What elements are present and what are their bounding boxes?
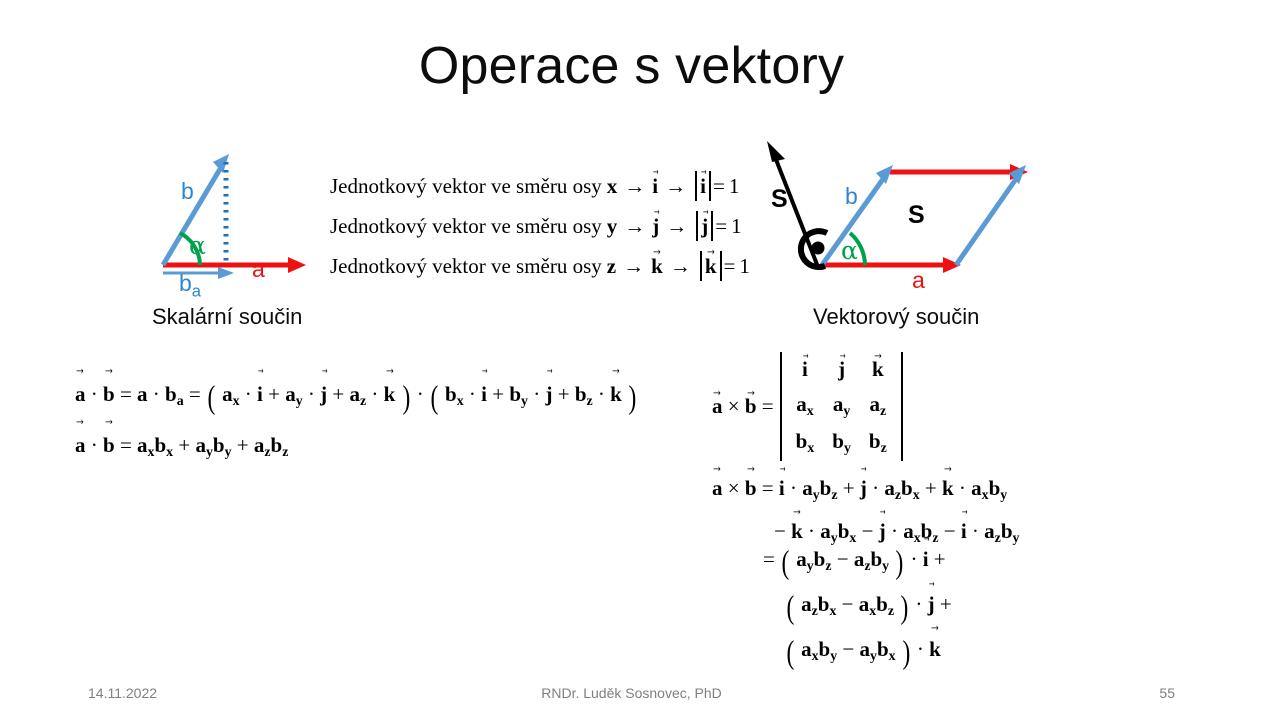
exp-a-x-1: a	[971, 476, 982, 500]
cmp-sub-z-4: z	[888, 603, 894, 618]
cmp-b-z-1: b	[814, 547, 826, 571]
cmp-vec-i: i	[923, 540, 929, 578]
sub-z-4: z	[282, 444, 288, 459]
sym-dot-7: ·	[469, 382, 476, 406]
sym-dot-12: ·	[872, 476, 879, 500]
det-cell-ax: ax	[787, 387, 824, 424]
cmp-sub-y-4: y	[870, 648, 877, 663]
cmp-a-x-2: a	[801, 637, 812, 661]
vector-b-label-cross: b	[845, 185, 858, 208]
unit-vector-definitions: Jednotkový vektor ve směru osy x → i → i…	[330, 166, 750, 286]
sym-plus-1: +	[268, 382, 280, 406]
cmp-b-x-1: b	[818, 592, 830, 616]
exp-sub-y-2: y	[1000, 487, 1007, 502]
vector-b-parallel-arrow-cross	[956, 165, 1026, 265]
exp-b-y-1: b	[989, 476, 1001, 500]
sym-b-scalar-1: b	[165, 382, 177, 406]
equals-glyph-x: =	[713, 174, 725, 199]
vector-a-parallel-arrow-cross	[890, 164, 1028, 180]
paren-open-3: (	[782, 544, 790, 582]
paren-open-5: (	[787, 634, 795, 672]
sym-times-1: ×	[728, 394, 740, 418]
determinant-row-a: ax ay az	[787, 387, 896, 424]
scalar-product-diagram	[140, 140, 340, 300]
sub-y-4: y	[225, 444, 232, 459]
det-sub-z-b: z	[881, 440, 887, 455]
sym-vec-i-1: i	[257, 372, 263, 416]
sub-y-1: y	[296, 393, 303, 408]
arrow-glyph-y2: →	[666, 214, 687, 239]
arrow-glyph-z2: →	[670, 254, 691, 279]
sym-dot-19: ·	[917, 637, 924, 661]
unit-vector-row-y: Jednotkový vektor ve směru osy y → j → j…	[330, 206, 750, 246]
slide-canvas: Operace s vektory b a ba α Skalární souč…	[0, 0, 1263, 711]
unit-vector-symbol-x: i	[652, 174, 658, 199]
sym-vec-b-4: b	[745, 470, 757, 507]
det-bar-left	[780, 352, 782, 461]
footer-page-number: 55	[1159, 685, 1175, 701]
determinant-row: a × b = i j k ax ay az	[712, 352, 903, 461]
sym-dot-13: ·	[959, 476, 966, 500]
term-ay-2: a	[195, 433, 206, 457]
abs-bar-right-x	[709, 171, 711, 201]
det-sym-b-z: b	[869, 429, 881, 453]
magnitude-inner-symbol-z: k	[702, 254, 720, 279]
sym-vec-a-4: a	[712, 470, 723, 507]
equals-glyph-y: =	[715, 214, 727, 239]
cross-product-determinant-block: a × b = i j k ax ay az	[712, 352, 903, 461]
cross-det-lhs: a × b =	[712, 394, 774, 419]
sym-vec-a-2: a	[75, 423, 86, 467]
cross-component-line-k: ( axby − aybx ) · k	[763, 630, 952, 675]
cross-product-components-block: = ( aybz − azby ) · i + ( azbx − axbz ) …	[763, 540, 952, 675]
cmp-a-z-1: a	[854, 547, 865, 571]
exp-b-y-2: b	[1001, 519, 1013, 543]
cmp-sub-x-4: x	[889, 648, 896, 663]
term-ax-1: a	[222, 382, 233, 406]
magnitude-value-z: 1	[739, 254, 750, 279]
sym-dot-10: ·	[91, 433, 98, 457]
sym-dot-4: ·	[308, 382, 315, 406]
exp-sub-x-2: x	[982, 487, 989, 502]
sym-plus-2: +	[332, 382, 344, 406]
footer-author: RNDr. Luděk Sosnovec, PhD	[0, 685, 1263, 701]
sym-eq-5: =	[762, 476, 774, 500]
cmp-sub-y-1: y	[807, 558, 814, 573]
sym-dot-9: ·	[598, 382, 605, 406]
sym-minus-6: −	[842, 637, 854, 661]
det-cell-i: i	[787, 352, 824, 387]
equals-glyph-z: =	[724, 254, 736, 279]
cross-expansion-line-1: a × b = i · aybz + j · azbx + k · axby	[712, 470, 1019, 513]
sym-plus-8: +	[925, 476, 937, 500]
det-sym-i: i	[802, 357, 808, 382]
exp-b-x-1: b	[901, 476, 913, 500]
abs-bar-right-y	[711, 211, 713, 241]
exp-vec-j-1: j	[860, 470, 867, 507]
vector-b-label-scalar: b	[181, 180, 194, 203]
vector-product-diagram	[755, 135, 1045, 295]
determinant-row-units: i j k	[787, 352, 896, 387]
sym-dot-3: ·	[245, 382, 252, 406]
sub-z-2: z	[587, 393, 593, 408]
paren-close-3: )	[896, 544, 904, 582]
sym-plus-6: +	[237, 433, 249, 457]
term-bx-2: b	[154, 433, 166, 457]
cmp-sub-x-3: x	[812, 648, 819, 663]
unit-vector-prefix-z: Jednotkový vektor ve směru osy	[330, 254, 602, 279]
sym-dot-18: ·	[915, 592, 922, 616]
sym-vec-i-2: i	[481, 372, 487, 416]
sym-dot-8: ·	[533, 382, 540, 406]
sym-vec-a-3: a	[712, 394, 723, 419]
angle-alpha-label-cross: α	[841, 238, 858, 263]
sym-dot-6: ·	[417, 382, 424, 406]
exp-sub-z-1: z	[831, 487, 837, 502]
sym-eq-4: =	[762, 394, 774, 418]
unit-vector-prefix-y: Jednotkový vektor ve směru osy	[330, 214, 602, 239]
arrow-glyph-x2: →	[665, 174, 686, 199]
det-cell-az: az	[860, 387, 896, 424]
cmp-b-x-2: b	[877, 637, 889, 661]
cmp-vec-k: k	[929, 630, 941, 668]
cmp-a-x-1: a	[859, 592, 870, 616]
sym-vec-j-2: j	[545, 372, 552, 416]
sym-vec-b-2: b	[103, 423, 115, 467]
det-sub-y-b: y	[844, 440, 851, 455]
magnitude-bars-z: k	[700, 251, 722, 281]
sub-y-3: y	[206, 444, 213, 459]
cmp-a-y-2: a	[860, 637, 871, 661]
term-ax-2: a	[137, 433, 148, 457]
sym-vec-b-3: b	[745, 394, 757, 419]
scalar-formula-line-1: a · b = a · ba = ( ax · i + ay · j + az …	[75, 372, 638, 423]
sym-plus-3: +	[492, 382, 504, 406]
vector-a-label-scalar: a	[252, 258, 265, 281]
page-title: Operace s vektory	[0, 38, 1263, 95]
sym-vec-b-1: b	[103, 372, 115, 416]
det-sub-z-a: z	[880, 403, 886, 418]
exp-b-z-1: b	[820, 476, 832, 500]
abs-bar-right-z	[720, 251, 722, 281]
paren-close-1: )	[402, 376, 410, 420]
sym-vec-k-2: k	[610, 372, 622, 416]
exp-vec-k-1: k	[942, 470, 954, 507]
sym-eq-1: =	[120, 382, 132, 406]
cross-component-line-i: = ( aybz − azby ) · i +	[763, 540, 952, 585]
det-cell-bz: bz	[860, 424, 896, 461]
cmp-b-z-2: b	[876, 592, 888, 616]
scalar-product-caption: Skalární součin	[152, 304, 302, 330]
cmp-b-y-2: b	[819, 637, 831, 661]
unit-vector-row-x: Jednotkový vektor ve směru osy x → i → i…	[330, 166, 750, 206]
det-cell-by: by	[823, 424, 860, 461]
angle-alpha-label-scalar: α	[189, 233, 206, 258]
arrow-glyph-x1: →	[624, 174, 645, 199]
det-sub-x-a: x	[807, 403, 814, 418]
det-bar-right	[901, 352, 903, 461]
sym-plus-4: +	[558, 382, 570, 406]
paren-open-1: (	[208, 376, 216, 420]
vector-product-caption: Vektorový součin	[813, 304, 979, 330]
term-az-1: a	[350, 382, 361, 406]
vector-ba-label-scalar: ba	[179, 272, 201, 300]
paren-close-5: )	[902, 634, 910, 672]
det-sym-a-z: a	[869, 392, 880, 416]
exp-sub-y-1: y	[813, 487, 820, 502]
sym-minus-5: −	[842, 592, 854, 616]
vector-S-label-outer: S	[771, 187, 788, 212]
paren-open-2: (	[430, 376, 438, 420]
sym-plus-10: +	[940, 592, 952, 616]
sym-dot-1: ·	[91, 382, 98, 406]
determinant-row-b: bx by bz	[787, 424, 896, 461]
sub-x-1: x	[233, 393, 240, 408]
cmp-sub-x-1: x	[829, 603, 836, 618]
cmp-sub-z-1: z	[825, 558, 831, 573]
unit-vector-symbol-z: k	[651, 254, 663, 279]
sym-dot-17: ·	[910, 547, 917, 571]
cmp-vec-j: j	[928, 585, 935, 623]
vector-ba-base: b	[179, 270, 192, 296]
unit-vector-prefix-x: Jednotkový vektor ve směru osy	[330, 174, 602, 199]
term-bz-1: b	[575, 382, 587, 406]
det-sym-b-y: b	[832, 429, 844, 453]
det-sub-y-a: y	[843, 403, 850, 418]
magnitude-bars-y: j	[696, 211, 713, 241]
sym-plus-9: +	[934, 547, 946, 571]
sym-times-2: ×	[728, 476, 740, 500]
sub-y-2: y	[521, 393, 528, 408]
sub-x-4: x	[166, 444, 173, 459]
sym-a-scalar-1: a	[137, 382, 148, 406]
term-az-2: a	[254, 433, 265, 457]
sym-dot-16: ·	[972, 519, 979, 543]
scalar-product-formula-block: a · b = a · ba = ( ax · i + ay · j + az …	[75, 372, 638, 474]
sym-vec-k-1: k	[384, 372, 396, 416]
magnitude-bars-x: i	[695, 171, 711, 201]
term-ay-1: a	[285, 382, 296, 406]
determinant-matrix: i j k ax ay az bx by bz	[780, 352, 903, 461]
cross-component-line-j: ( azbx − axbz ) · j +	[763, 585, 952, 630]
cmp-b-y-1: b	[870, 547, 882, 571]
exp-vec-i-1: i	[779, 470, 785, 507]
sym-dot-2: ·	[153, 382, 160, 406]
cmp-a-z-2: a	[801, 592, 812, 616]
exp-a-y-1: a	[802, 476, 813, 500]
det-sym-b-x: b	[796, 429, 808, 453]
unit-vector-row-z: Jednotkový vektor ve směru osy z → k → k…	[330, 246, 750, 286]
axis-name-x: x	[607, 174, 618, 199]
det-sym-a-y: a	[833, 392, 844, 416]
term-by-2: b	[213, 433, 225, 457]
det-cell-k: k	[860, 352, 896, 387]
det-sym-a-x: a	[796, 392, 807, 416]
arrow-glyph-y1: →	[624, 214, 645, 239]
exp-sub-x-1: x	[913, 487, 920, 502]
sym-vec-a-1: a	[75, 372, 86, 416]
cmp-sub-y-3: y	[830, 648, 837, 663]
cmp-a-y-1: a	[796, 547, 807, 571]
det-cell-ay: ay	[823, 387, 860, 424]
sym-plus-7: +	[843, 476, 855, 500]
sub-z-1: z	[360, 393, 366, 408]
term-bz-2: b	[271, 433, 283, 457]
sym-vec-j-1: j	[320, 372, 327, 416]
area-S-label-inner: S	[908, 203, 925, 228]
term-bx-1: b	[445, 382, 457, 406]
paren-close-2: )	[629, 376, 637, 420]
sym-eq-2: =	[189, 382, 201, 406]
sym-minus-4: −	[837, 547, 849, 571]
unit-vector-symbol-y: j	[652, 214, 659, 239]
sym-plus-5: +	[178, 433, 190, 457]
magnitude-inner-symbol-x: i	[697, 174, 709, 199]
det-cell-bx: bx	[787, 424, 824, 461]
exp-vec-i-2: i	[961, 513, 967, 550]
exp-a-z-1: a	[884, 476, 895, 500]
det-sub-x-b: x	[807, 440, 814, 455]
determinant-table: i j k ax ay az bx by bz	[787, 352, 896, 461]
vector-a-label-cross: a	[912, 269, 925, 292]
sym-eq-6: =	[763, 547, 775, 571]
magnitude-value-x: 1	[729, 174, 740, 199]
exp-sub-y-4: y	[1013, 530, 1020, 545]
sym-dot-11: ·	[790, 476, 797, 500]
scalar-formula-line-2: a · b = axbx + ayby + azbz	[75, 423, 638, 474]
vector-ba-subscript: a	[192, 282, 201, 301]
sym-eq-3: =	[120, 433, 132, 457]
paren-open-4: (	[787, 589, 795, 627]
sub-a-1: a	[177, 393, 184, 408]
sym-dot-5: ·	[371, 382, 378, 406]
arrow-glyph-z1: →	[623, 254, 644, 279]
term-by-1: b	[509, 382, 521, 406]
axis-name-y: y	[607, 214, 618, 239]
axis-name-z: z	[607, 254, 616, 279]
paren-close-4: )	[901, 589, 909, 627]
exp-a-z-2: a	[984, 519, 995, 543]
det-sym-j: j	[838, 357, 845, 382]
magnitude-inner-symbol-y: j	[698, 214, 711, 239]
det-sym-k: k	[872, 357, 884, 382]
cmp-sub-y-2: y	[882, 558, 889, 573]
magnitude-value-y: 1	[731, 214, 742, 239]
sub-x-2: x	[457, 393, 464, 408]
det-cell-j: j	[823, 352, 860, 387]
